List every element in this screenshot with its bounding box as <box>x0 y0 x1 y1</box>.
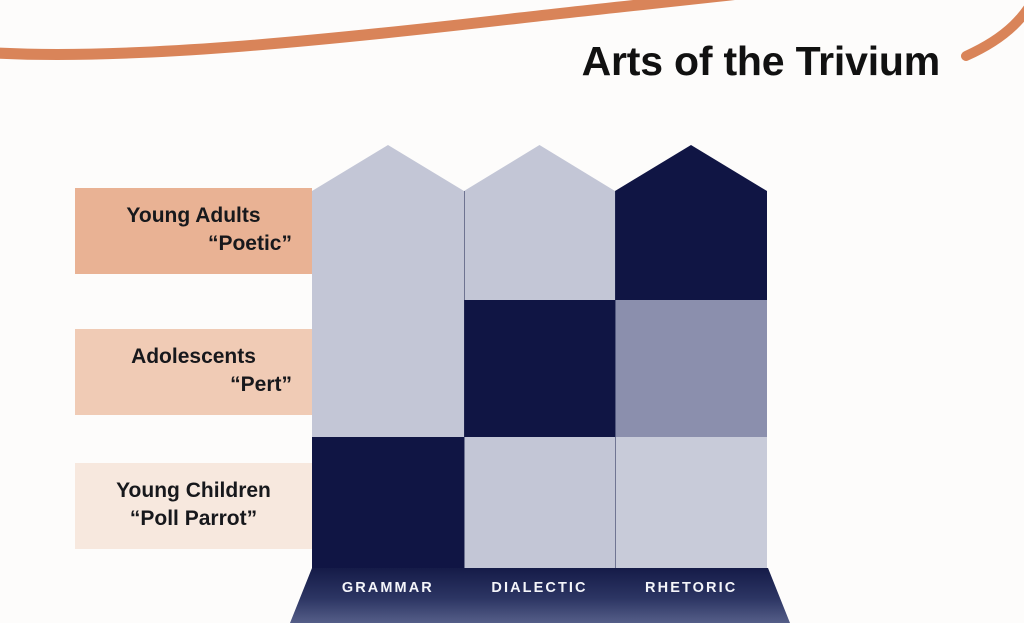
base-label-rhetoric: RHETORIC <box>615 576 767 600</box>
cell-grammar-young-children <box>312 437 464 568</box>
stage-label-line2: “Poll Parrot” <box>91 505 296 533</box>
stage-label-adolescents: Adolescents “Pert” <box>75 329 312 415</box>
cell-grammar-young-adults <box>312 191 464 300</box>
column-divider-2 <box>615 191 617 568</box>
slide-canvas: Arts of the Trivium Young Adults “Poetic… <box>0 0 1024 623</box>
stage-label-line1: Adolescents <box>91 343 296 371</box>
base-label-dialectic: DIALECTIC <box>464 576 616 600</box>
cell-rhetoric-adolescents <box>615 300 767 437</box>
page-title: Arts of the Trivium <box>582 38 940 85</box>
base-label-row: GRAMMAR DIALECTIC RHETORIC <box>312 576 767 600</box>
base-label-grammar: GRAMMAR <box>312 576 464 600</box>
roof-peak-dialectic <box>464 145 615 191</box>
roof-shape <box>312 145 464 191</box>
roof-shape <box>464 145 615 191</box>
cell-rhetoric-young-children <box>615 437 767 568</box>
stage-label-line1: Young Adults <box>91 202 296 230</box>
stage-label-line2: “Pert” <box>91 371 296 399</box>
cell-dialectic-young-adults <box>464 191 615 300</box>
stage-label-young-adults: Young Adults “Poetic” <box>75 188 312 274</box>
stage-label-young-children: Young Children “Poll Parrot” <box>75 463 312 549</box>
roof-peak-grammar <box>312 145 464 191</box>
roof-peak-rhetoric <box>615 145 767 191</box>
stage-label-line2: “Poetic” <box>91 230 296 258</box>
column-grammar <box>312 145 464 568</box>
column-rhetoric <box>615 145 767 568</box>
column-dialectic <box>464 145 615 568</box>
cell-dialectic-adolescents <box>464 300 615 437</box>
roof-shape <box>615 145 767 191</box>
cell-grammar-adolescents <box>312 300 464 437</box>
stage-label-line1: Young Children <box>91 477 296 505</box>
trivium-matrix <box>312 145 767 568</box>
cell-dialectic-young-children <box>464 437 615 568</box>
cell-rhetoric-young-adults <box>615 191 767 300</box>
column-divider-1 <box>464 191 466 568</box>
